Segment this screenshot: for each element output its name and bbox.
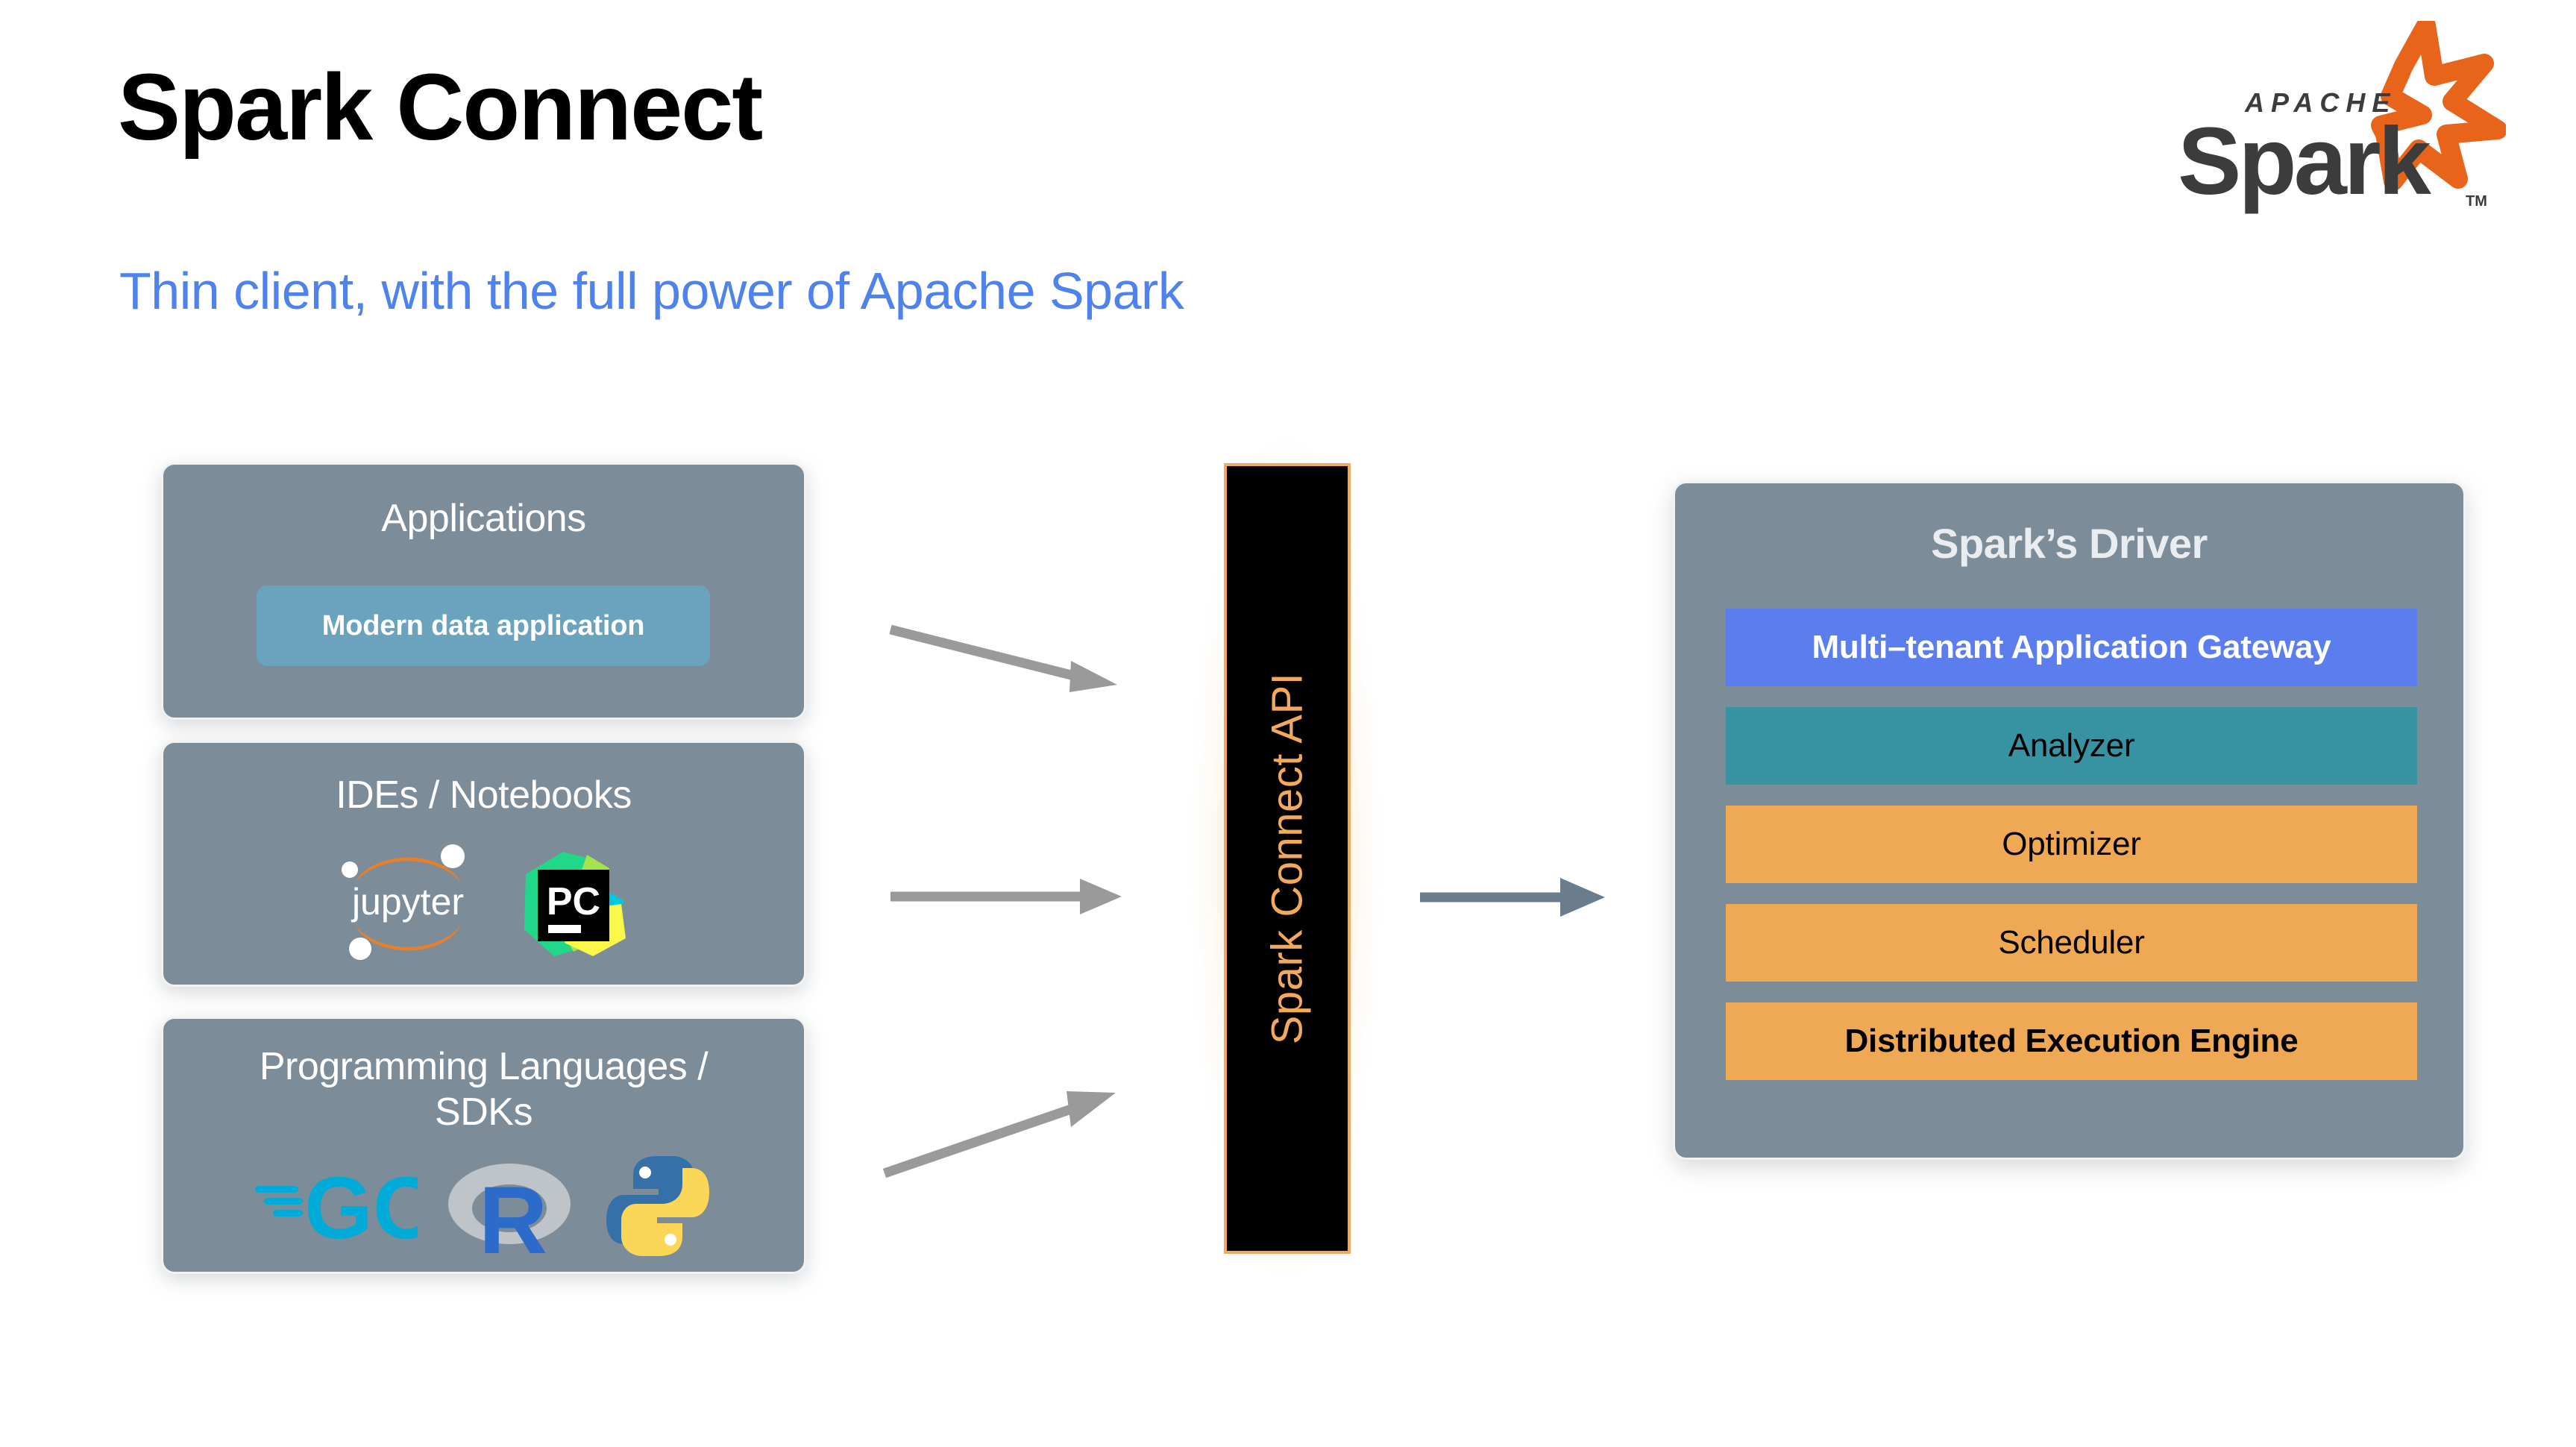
panel-ides-notebooks[interactable]: IDEs / Notebooks jupyter <box>161 741 806 987</box>
arrow-ides-to-api <box>888 858 1134 940</box>
modern-data-application-chip[interactable]: Modern data application <box>257 586 710 666</box>
r-wordmark: R <box>479 1167 547 1262</box>
panel-languages-title-line2: SDKs <box>163 1090 804 1135</box>
ide-logo-row: jupyter PC <box>163 838 804 970</box>
r-logo: R <box>444 1150 575 1266</box>
panel-applications[interactable]: Applications Modern data application <box>161 462 806 720</box>
driver-row-gateway[interactable]: Multi–tenant Application Gateway <box>1726 609 2417 686</box>
driver-row-analyzer[interactable]: Analyzer <box>1726 707 2417 785</box>
logo-trademark: TM <box>2466 193 2487 210</box>
apache-spark-logo: APACHE Spark TM <box>2133 21 2506 222</box>
driver-row-scheduler[interactable]: Scheduler <box>1726 904 2417 982</box>
pycharm-logo: PC <box>515 843 635 966</box>
pycharm-wordmark: PC <box>546 880 600 923</box>
panel-ides-title: IDEs / Notebooks <box>163 773 804 818</box>
driver-row-optimizer[interactable]: Optimizer <box>1726 806 2417 883</box>
panel-languages-title-line1: Programming Languages / <box>163 1044 804 1090</box>
driver-row-list: Multi–tenant Application Gateway Analyze… <box>1726 609 2417 1080</box>
driver-title: Spark’s Driver <box>1675 519 2463 568</box>
panel-sparks-driver[interactable]: Spark’s Driver Multi–tenant Application … <box>1673 481 2466 1160</box>
arrow-languages-to-api <box>880 1055 1134 1182</box>
jupyter-wordmark: jupyter <box>350 881 463 923</box>
logo-spark-word: Spark <box>2178 108 2432 215</box>
page-title: Spark Connect <box>118 58 761 157</box>
panel-applications-title: Applications <box>163 496 804 542</box>
slide-canvas: Spark Connect Thin client, with the full… <box>0 0 2576 1447</box>
arrow-applications-to-api <box>888 619 1134 723</box>
spark-connect-api-bar[interactable]: Spark Connect API <box>1224 463 1351 1254</box>
go-logo: GO <box>254 1158 418 1258</box>
arrow-api-to-driver <box>1417 861 1611 936</box>
driver-row-execution-engine[interactable]: Distributed Execution Engine <box>1726 1002 2417 1080</box>
pycharm-underscore-icon <box>548 925 581 933</box>
page-subtitle: Thin client, with the full power of Apac… <box>119 261 1184 321</box>
language-logo-row: GO R <box>163 1150 804 1266</box>
python-logo <box>602 1150 714 1266</box>
jupyter-logo: jupyter <box>333 838 483 970</box>
api-bar-label: Spark Connect API <box>1263 673 1313 1045</box>
panel-languages-title: Programming Languages / SDKs <box>163 1044 804 1136</box>
panel-programming-languages[interactable]: Programming Languages / SDKs GO <box>161 1017 806 1274</box>
go-wordmark: GO <box>304 1159 418 1255</box>
